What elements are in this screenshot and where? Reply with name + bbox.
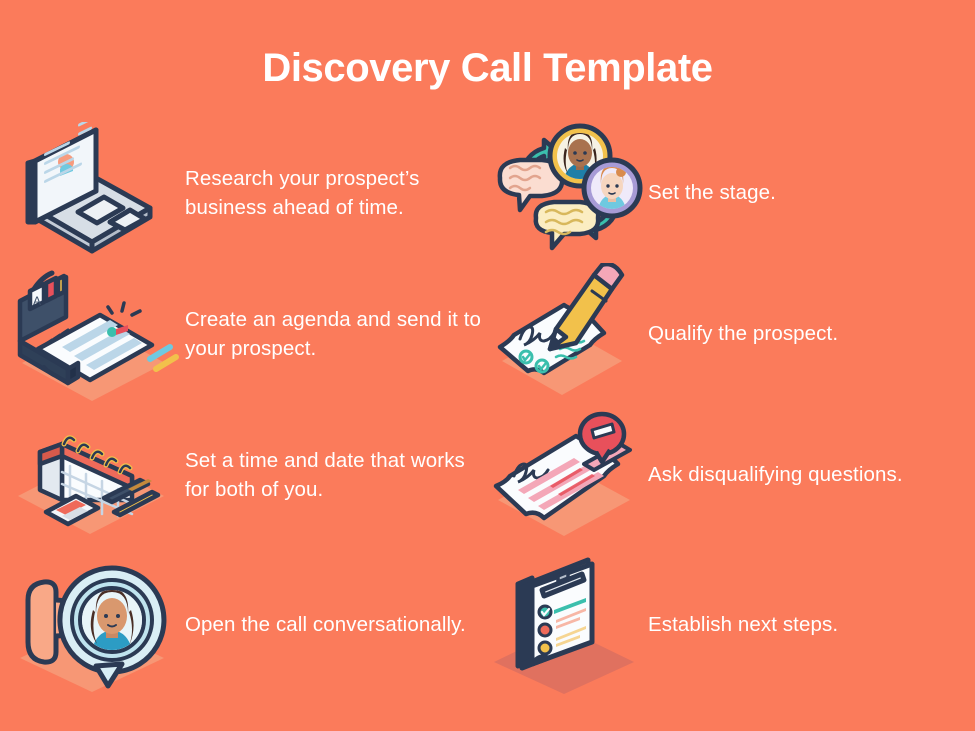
clipboard-checklist-icon: [488, 554, 648, 695]
step-item: A: [0, 263, 487, 404]
step-label: Open the call conversationally.: [185, 610, 487, 639]
step-label: Ask disqualifying questions.: [648, 460, 975, 489]
document-reject-icon: [488, 404, 648, 545]
steps-grid: Research your prospect’s business ahead …: [0, 120, 975, 700]
step-item: Establish next steps.: [488, 554, 975, 695]
svg-text:A: A: [33, 294, 41, 308]
briefcase-planner-icon: A: [0, 263, 185, 404]
step-item: Set a time and date that works for both …: [0, 404, 487, 545]
desk-calendar-icon: [0, 404, 185, 545]
step-label: Research your prospect’s business ahead …: [185, 164, 487, 222]
step-item: Qualify the prospect.: [488, 263, 975, 404]
laptop-icon: [0, 122, 185, 263]
step-label: Set a time and date that works for both …: [185, 446, 487, 504]
step-item: Research your prospect’s business ahead …: [0, 122, 487, 263]
step-label: Establish next steps.: [648, 610, 975, 639]
step-item: Set the stage.: [488, 122, 975, 263]
pencil-checklist-icon: [488, 263, 648, 404]
step-label: Set the stage.: [648, 178, 975, 207]
conversation-avatars-icon: [488, 122, 648, 263]
step-label: Qualify the prospect.: [648, 319, 975, 348]
infographic-page: Discovery Call Template: [0, 0, 975, 731]
page-title: Discovery Call Template: [0, 46, 975, 91]
step-item: Open the call conversationally.: [0, 554, 487, 695]
left-column: Research your prospect’s business ahead …: [0, 120, 487, 700]
phone-portrait-icon: [0, 554, 185, 695]
right-column: Set the stage.: [488, 120, 975, 700]
step-label: Create an agenda and send it to your pro…: [185, 305, 487, 363]
step-item: Ask disqualifying questions.: [488, 404, 975, 545]
